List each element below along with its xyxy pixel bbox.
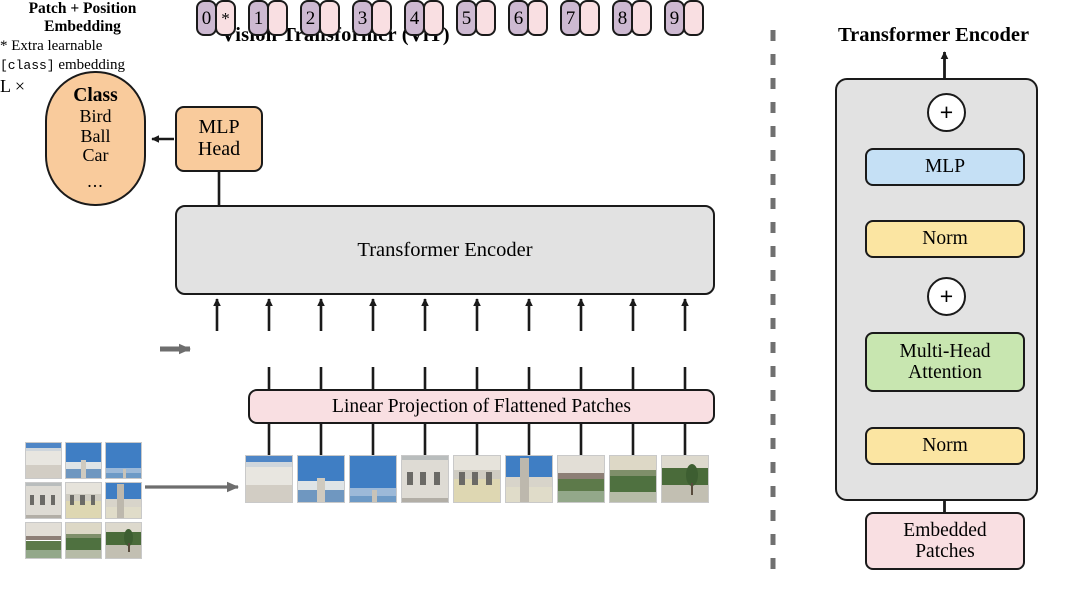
token-number-3: 3 [352,0,373,36]
embedded-patches-line2: Patches [915,541,975,562]
token-number-8: 8 [612,0,633,36]
token-number-7: 7 [560,0,581,36]
patch-7-base-hedge [557,455,605,503]
patch-6-tower-sky [505,455,553,503]
token-number-6: 6 [508,0,529,36]
token-number-9: 9 [664,0,685,36]
multi-head-attention-block: Multi-Head Attention [865,332,1025,392]
patch-8-garden-hedge [609,455,657,503]
residual-add-top: + [927,93,966,132]
patch-3-sky [349,455,397,503]
vit-diagram: Vision Transformer (ViT) Transformer Enc… [0,0,1080,593]
embedded-patches-line1: Embedded [903,520,986,541]
token-number-0: 0 [196,0,217,36]
patch-9-tree-path [661,455,709,503]
residual-add-bottom: + [927,277,966,316]
token-number-5: 5 [456,0,477,36]
patch-1-facade-dome [245,455,293,503]
token-number-4: 4 [404,0,425,36]
token-number-1: 1 [248,0,269,36]
patch-2-sky-tower [297,455,345,503]
encoder-mlp-block: MLP [865,148,1025,186]
patch-5-palace-dome [453,455,501,503]
attention-line1: Multi-Head [900,341,991,362]
attention-line2: Attention [908,362,982,383]
encoder-norm-top-block: Norm [865,220,1025,258]
token-number-2: 2 [300,0,321,36]
encoder-norm-bottom-block: Norm [865,427,1025,465]
patch-4-facade-windows [401,455,449,503]
embedded-patches-block: Embedded Patches [865,512,1025,570]
